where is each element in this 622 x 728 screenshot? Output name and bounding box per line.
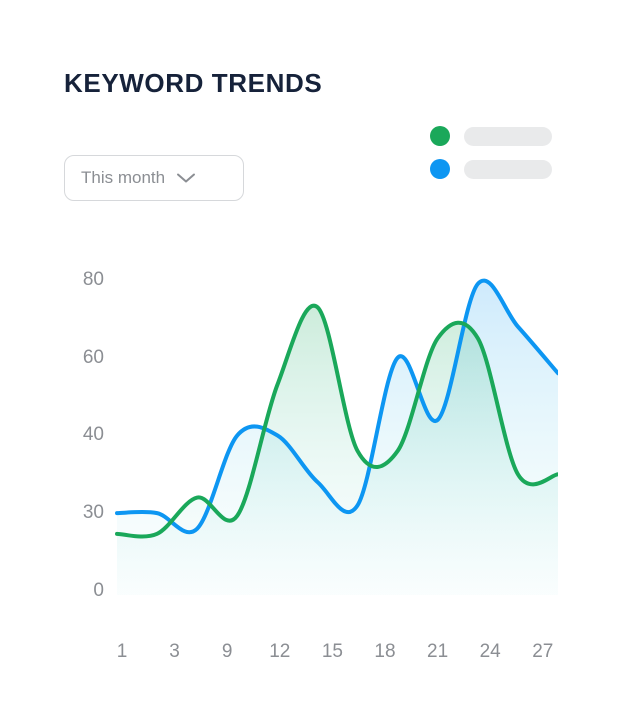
x-axis-tick: 27 [532,641,553,663]
legend-color-dot-blue [430,159,450,179]
y-axis-tick: 80 [0,269,104,291]
y-axis: 806040300 [0,0,104,728]
x-axis-tick: 15 [322,641,343,663]
y-axis-tick: 60 [0,347,104,369]
date-range-dropdown[interactable]: This month [64,155,244,201]
y-axis-tick: 0 [0,580,104,602]
x-axis-tick: 3 [169,641,180,663]
area-fill-green [117,306,558,595]
y-axis-tick: 40 [0,424,104,446]
chart-legend [430,126,552,179]
chart-canvas [0,0,622,728]
keyword-trends-card: KEYWORD TRENDS This month [0,0,622,728]
legend-color-dot-green [430,126,450,146]
legend-label-skeleton [464,160,552,179]
keyword-trends-chart: 806040300 139121518212427 [0,0,622,728]
chevron-down-icon [176,172,196,184]
legend-item[interactable] [430,159,552,179]
y-axis-tick: 30 [0,502,104,524]
line-series-blue [117,281,558,533]
legend-label-skeleton [464,127,552,146]
line-series-green [117,306,558,537]
x-axis-tick: 1 [117,641,128,663]
area-fill-blue [117,281,558,595]
date-range-value: This month [81,168,165,188]
page-title: KEYWORD TRENDS [64,68,322,99]
x-axis-tick: 21 [427,641,448,663]
x-axis-tick: 9 [222,641,233,663]
x-axis-tick: 24 [480,641,501,663]
x-axis-tick: 12 [269,641,290,663]
x-axis-tick: 18 [374,641,395,663]
legend-item[interactable] [430,126,552,146]
x-axis: 139121518212427 [0,641,622,665]
